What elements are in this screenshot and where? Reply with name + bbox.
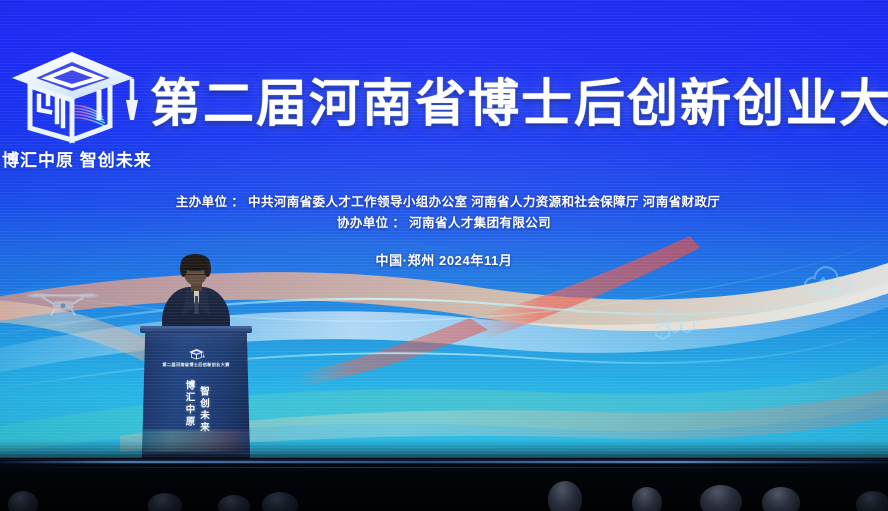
page-title: 第二届河南省博士后创新创业大赛 [150, 78, 888, 129]
audience-head [700, 485, 742, 511]
graduation-cap-logo-icon [6, 48, 142, 144]
led-backdrop-screen: 博汇中原 智创未来 第二届河南省博士后创新创业大赛 主办单位 ： 中共河南省委人… [0, 0, 888, 462]
host-organizations-line: 主办单位 ： 中共河南省委人才工作领导小组办公室 河南省人力资源和社会保障厅 河… [8, 192, 888, 213]
event-logo-block: 博汇中原 智创未来 [2, 48, 154, 171]
audience-head [262, 492, 298, 511]
conference-stage-photo: 博汇中原 智创未来 第二届河南省博士后创新创业大赛 主办单位 ： 中共河南省委人… [0, 0, 888, 511]
podium-graduation-cap-logo-icon [188, 348, 205, 361]
audience-head [218, 495, 250, 511]
audience-head [856, 491, 888, 511]
podium-slogan: 博汇中原 智创未来 [142, 386, 250, 434]
speaker-at-podium: 第二届河南省博士后创新创业大赛 博汇中原 智创未来 [142, 252, 272, 467]
organizer-credits: 主办单位 ： 中共河南省委人才工作领导小组办公室 河南省人力资源和社会保障厅 河… [0, 192, 888, 269]
podium-slogan-column-1: 智创未来 [199, 386, 209, 434]
podium-lectern: 第二届河南省博士后创新创业大赛 博汇中原 智创未来 [142, 330, 250, 456]
podium-top-surface [140, 326, 252, 333]
stage-front-and-audience [0, 458, 888, 511]
molecule-hexagon-icon [652, 306, 696, 340]
stage-edge-light-secondary [0, 467, 888, 468]
speaker-glasses [183, 268, 208, 275]
audience-head [762, 487, 800, 511]
place-and-date: 中国·郑州 2024年11月 [0, 250, 888, 269]
podium-event-title: 第二届河南省博士后创新创业大赛 [142, 363, 250, 369]
audience-head [8, 491, 38, 511]
audience-head [632, 487, 662, 511]
coorganizer-line: 协办单位 ： 河南省人才集团有限公司 [0, 213, 888, 234]
audience-head [148, 493, 182, 511]
audience-head [548, 481, 582, 511]
stage-edge-light [0, 461, 888, 463]
podium-slogan-column-2: 博汇中原 [184, 380, 194, 434]
logo-slogan-text: 博汇中原 智创未来 [2, 146, 154, 171]
drone-icon [25, 288, 101, 318]
